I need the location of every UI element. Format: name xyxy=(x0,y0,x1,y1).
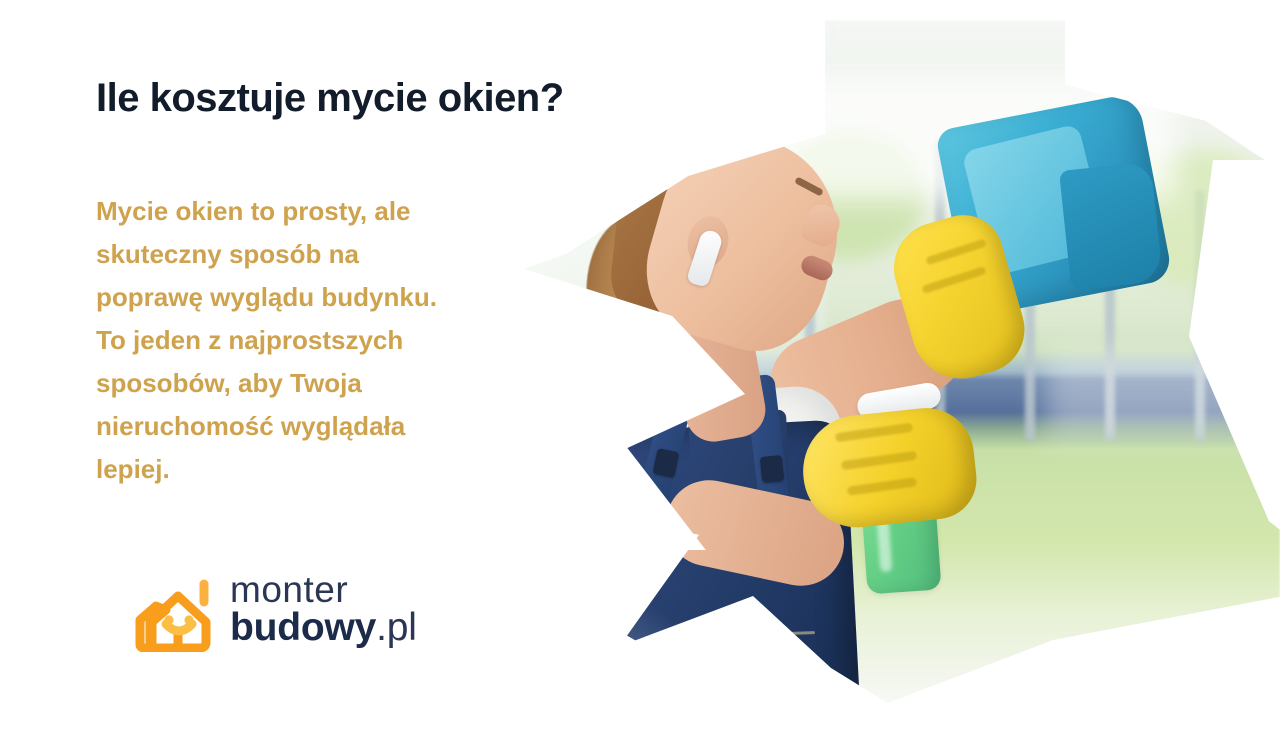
house-smiley-icon xyxy=(126,572,222,652)
poster-canvas: Ile kosztuje mycie okien? Mycie okien to… xyxy=(0,0,1280,731)
overalls-buckle xyxy=(760,455,785,483)
brand-name-bottom: budowy.pl xyxy=(230,606,417,650)
brand-wordmark: monter budowy.pl xyxy=(230,566,480,656)
page-title: Ile kosztuje mycie okien? xyxy=(96,76,564,121)
brand-name-top: monter xyxy=(230,570,348,610)
brand-tld: .pl xyxy=(376,606,417,649)
brand-logo[interactable]: monter budowy.pl xyxy=(126,566,476,656)
cloth-fold xyxy=(1059,162,1163,291)
hero-photo xyxy=(505,20,1280,720)
brand-name-bottom-text: budowy xyxy=(230,606,376,649)
lede-paragraph: Mycie okien to prosty, ale skuteczny spo… xyxy=(96,190,456,491)
